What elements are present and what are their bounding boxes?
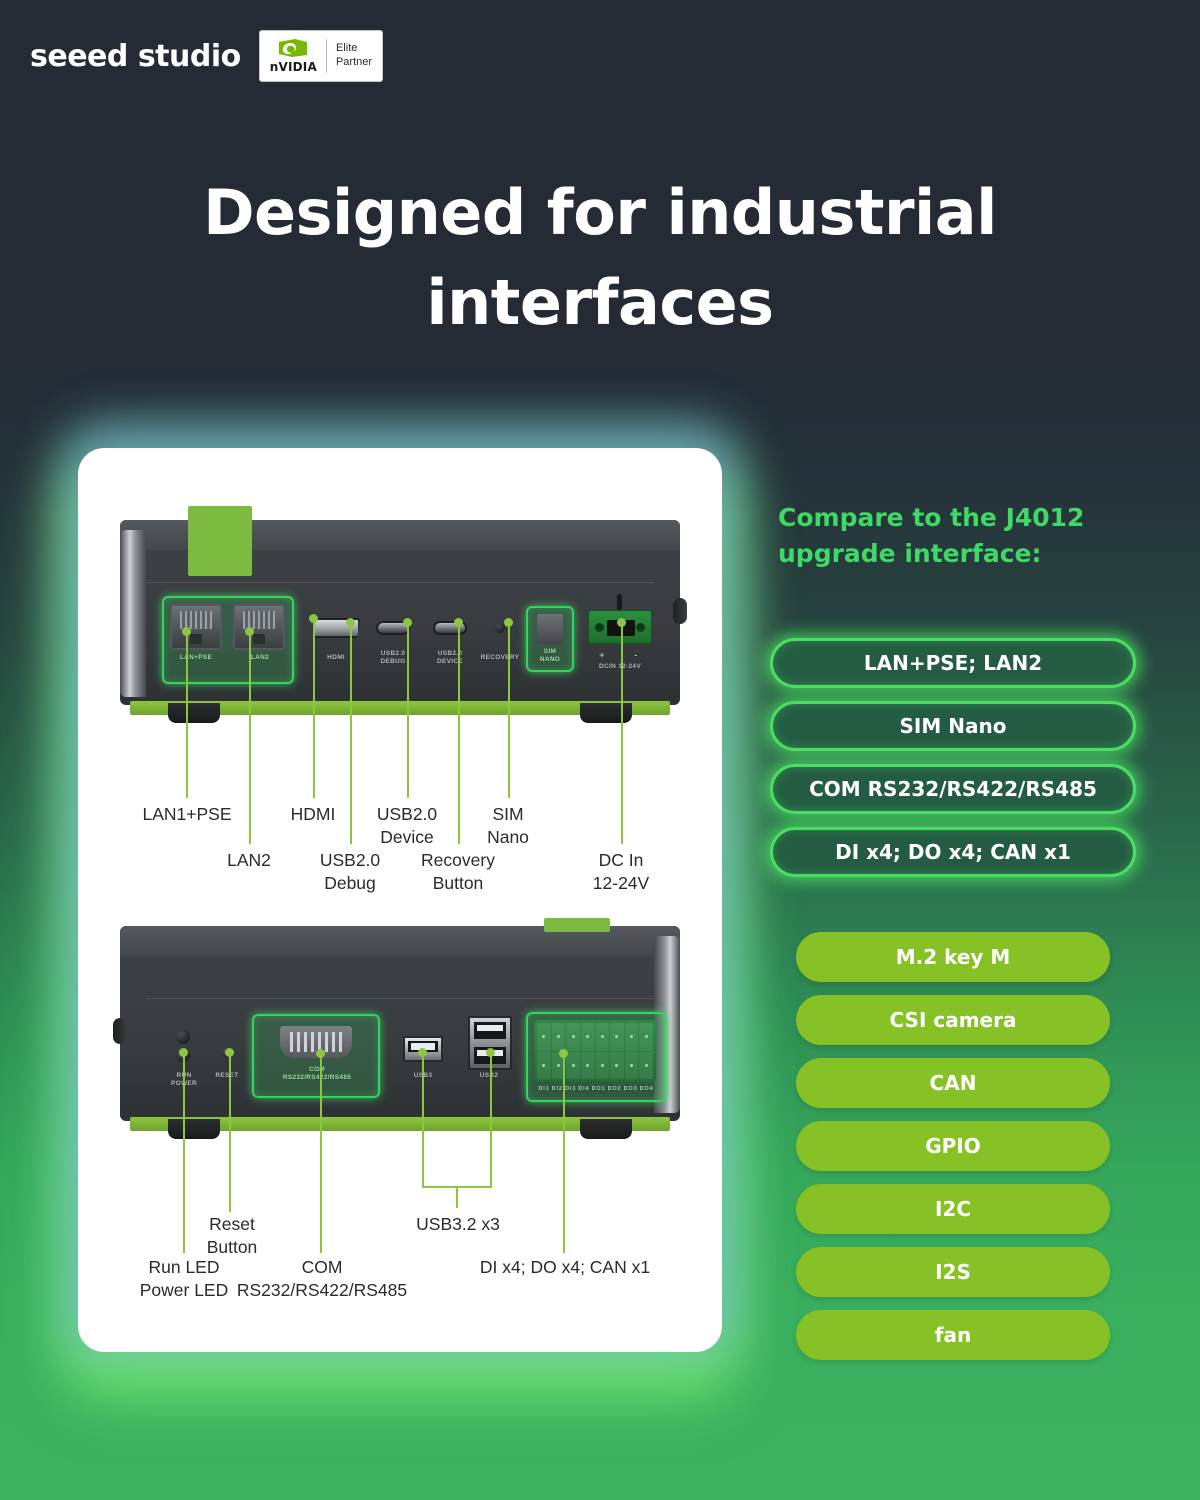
leader-line-run-power [183,1053,185,1253]
partner-line: Partner [336,56,372,70]
pill-label: CAN [930,1071,977,1095]
pill-label: COM RS232/RS422/RS485 [809,777,1097,801]
callout-recovery-button: Recovery Button [406,849,510,895]
usb-slot-upper [474,1022,506,1039]
terminal-cell [566,1052,580,1080]
device-foot-left [168,703,220,723]
terminal-cell [552,1023,566,1051]
pill-label: I2S [935,1260,971,1284]
callout-hdmi: HDMI [260,803,366,826]
leader-line-io [563,1054,565,1253]
lan2-port [233,604,285,650]
pill-lan-pse-lan2[interactable]: LAN+PSE; LAN2 [770,638,1136,688]
terminal-cell [566,1023,580,1051]
silk-lan2: LAN2 [230,654,290,662]
terminal-cell [639,1023,653,1051]
leader-line-sim [508,623,510,798]
terminal-cell [596,1052,610,1080]
callout-usb2-device: USB2.0 Device [357,803,457,849]
device-foot-left [168,1119,220,1139]
nvidia-logo-group: nVIDIA [270,38,317,74]
pill-i2s[interactable]: I2S [796,1247,1110,1297]
nvidia-eye-icon [278,38,308,58]
device-green-tab [544,918,610,932]
leader-line-reset [229,1053,231,1212]
silk-recovery: RECOVERY [472,654,528,662]
silk-io-pins: DI1 DI2 DI3 DI4 DO1 DO2 DO3 DO4 [530,1086,662,1093]
silk-dcin: DCIN 12-24V [582,663,658,671]
silk-usb2-debug: USB2.0 DEBUG [363,650,423,666]
pill-i2c[interactable]: I2C [796,1184,1110,1234]
pill-label: I2C [935,1197,971,1221]
terminal-cell [625,1023,639,1051]
terminal-cell [581,1052,595,1080]
seeed-studio-logo: seeed studio [30,39,241,74]
leader-line-usb3-down [456,1186,458,1208]
dc-hole-left [595,623,604,632]
leader-line-usb-stack [490,1053,492,1188]
callout-lan2: LAN2 [196,849,302,872]
silk-dc-minus: - [630,650,642,661]
callout-sim-nano: SIM Nano [470,803,546,849]
run-led [176,1030,190,1044]
device-foot-right [580,703,632,723]
pill-m2-key-m[interactable]: M.2 key M [796,932,1110,982]
page-title: Designed for industrial interfaces [0,168,1200,348]
leader-line-com [320,1054,322,1253]
device-side-knob [673,598,687,624]
nvidia-elite-partner-badge: nVIDIA Elite Partner [259,30,383,82]
silk-lan-pse: LAN+PSE [166,654,226,662]
terminal-cell [610,1023,624,1051]
device-green-tab [188,506,252,576]
bottom-device-illustration: RUN POWER RESET COM RS232/RS422/RS485 US… [120,926,680,1121]
pill-label: M.2 key M [896,945,1011,969]
terminal-cell [625,1052,639,1080]
leader-line-usbdevice [407,623,409,798]
compare-heading: Compare to the J4012 upgrade interface: [778,500,1178,573]
pill-sim-nano[interactable]: SIM Nano [770,701,1136,751]
callout-dc-in: DC In 12-24V [575,849,667,895]
dc-in-terminal [588,610,652,644]
device-diagram-card: LAN+PSE LAN2 HDMI USB2.0 DEBUG USB2.0 DE… [78,448,722,1352]
leader-line-hdmi [313,619,315,798]
terminal-cell [596,1023,610,1051]
silk-reset: RESET [206,1072,248,1080]
page-header: seeed studio nVIDIA Elite Partner [30,30,383,82]
device-side-knob [113,1018,127,1044]
pill-label: SIM Nano [900,714,1007,738]
terminal-cell [537,1023,551,1051]
pill-label: LAN+PSE; LAN2 [864,651,1042,675]
leader-line-usb3 [422,1053,424,1188]
terminal-cell [610,1052,624,1080]
callout-lan1-pse: LAN1+PSE [116,803,258,826]
db9-pins [286,1032,346,1052]
callout-usb2-debug: USB2.0 Debug [300,849,400,895]
pill-label: GPIO [925,1134,981,1158]
pill-csi-camera[interactable]: CSI camera [796,995,1110,1045]
leader-line-dcin [621,623,623,844]
device-left-side [120,530,146,697]
device-foot-right [580,1119,632,1139]
callout-di-do-can: DI x4; DO x4; CAN x1 [472,1256,658,1279]
silk-com: COM RS232/RS422/RS485 [262,1066,372,1082]
badge-divider [326,39,327,73]
dc-hole-right [636,623,645,632]
top-device-illustration: LAN+PSE LAN2 HDMI USB2.0 DEBUG USB2.0 DE… [120,520,680,705]
silk-usb2-device: USB2.0 DEVICE [420,650,480,666]
elite-line: Elite [336,42,372,56]
pill-label: DI x4; DO x4; CAN x1 [835,840,1071,864]
pill-fan[interactable]: fan [796,1310,1110,1360]
silk-usb2: USB2 [460,1072,518,1080]
terminal-cell [537,1052,551,1080]
callout-reset-button: Reset Button [190,1213,274,1259]
terminal-cell [639,1052,653,1080]
sim-nano-slot [537,614,563,644]
callout-com-port: COM RS232/RS422/RS485 [230,1256,414,1302]
io-terminal-block [534,1020,656,1082]
nvidia-wordmark: nVIDIA [270,60,317,74]
elite-partner-text: Elite Partner [336,42,372,70]
silk-sim-nano: SIM NANO [524,648,576,664]
pill-gpio[interactable]: GPIO [796,1121,1110,1171]
dc-terminal-screw [617,594,622,610]
leader-line-recovery [458,623,460,844]
device-seam [146,998,654,999]
lan1-pse-port [170,604,222,650]
leader-line-lan1 [186,632,188,798]
silk-dc-plus: + [596,650,608,661]
pill-com-rs232[interactable]: COM RS232/RS422/RS485 [770,764,1136,814]
pill-di-do-can[interactable]: DI x4; DO x4; CAN x1 [770,827,1136,877]
terminal-cell [581,1023,595,1051]
pill-label: fan [935,1323,971,1347]
pill-can[interactable]: CAN [796,1058,1110,1108]
device-seam [146,582,654,583]
callout-usb32-x3: USB3.2 x3 [394,1213,522,1236]
pill-label: CSI camera [890,1008,1017,1032]
